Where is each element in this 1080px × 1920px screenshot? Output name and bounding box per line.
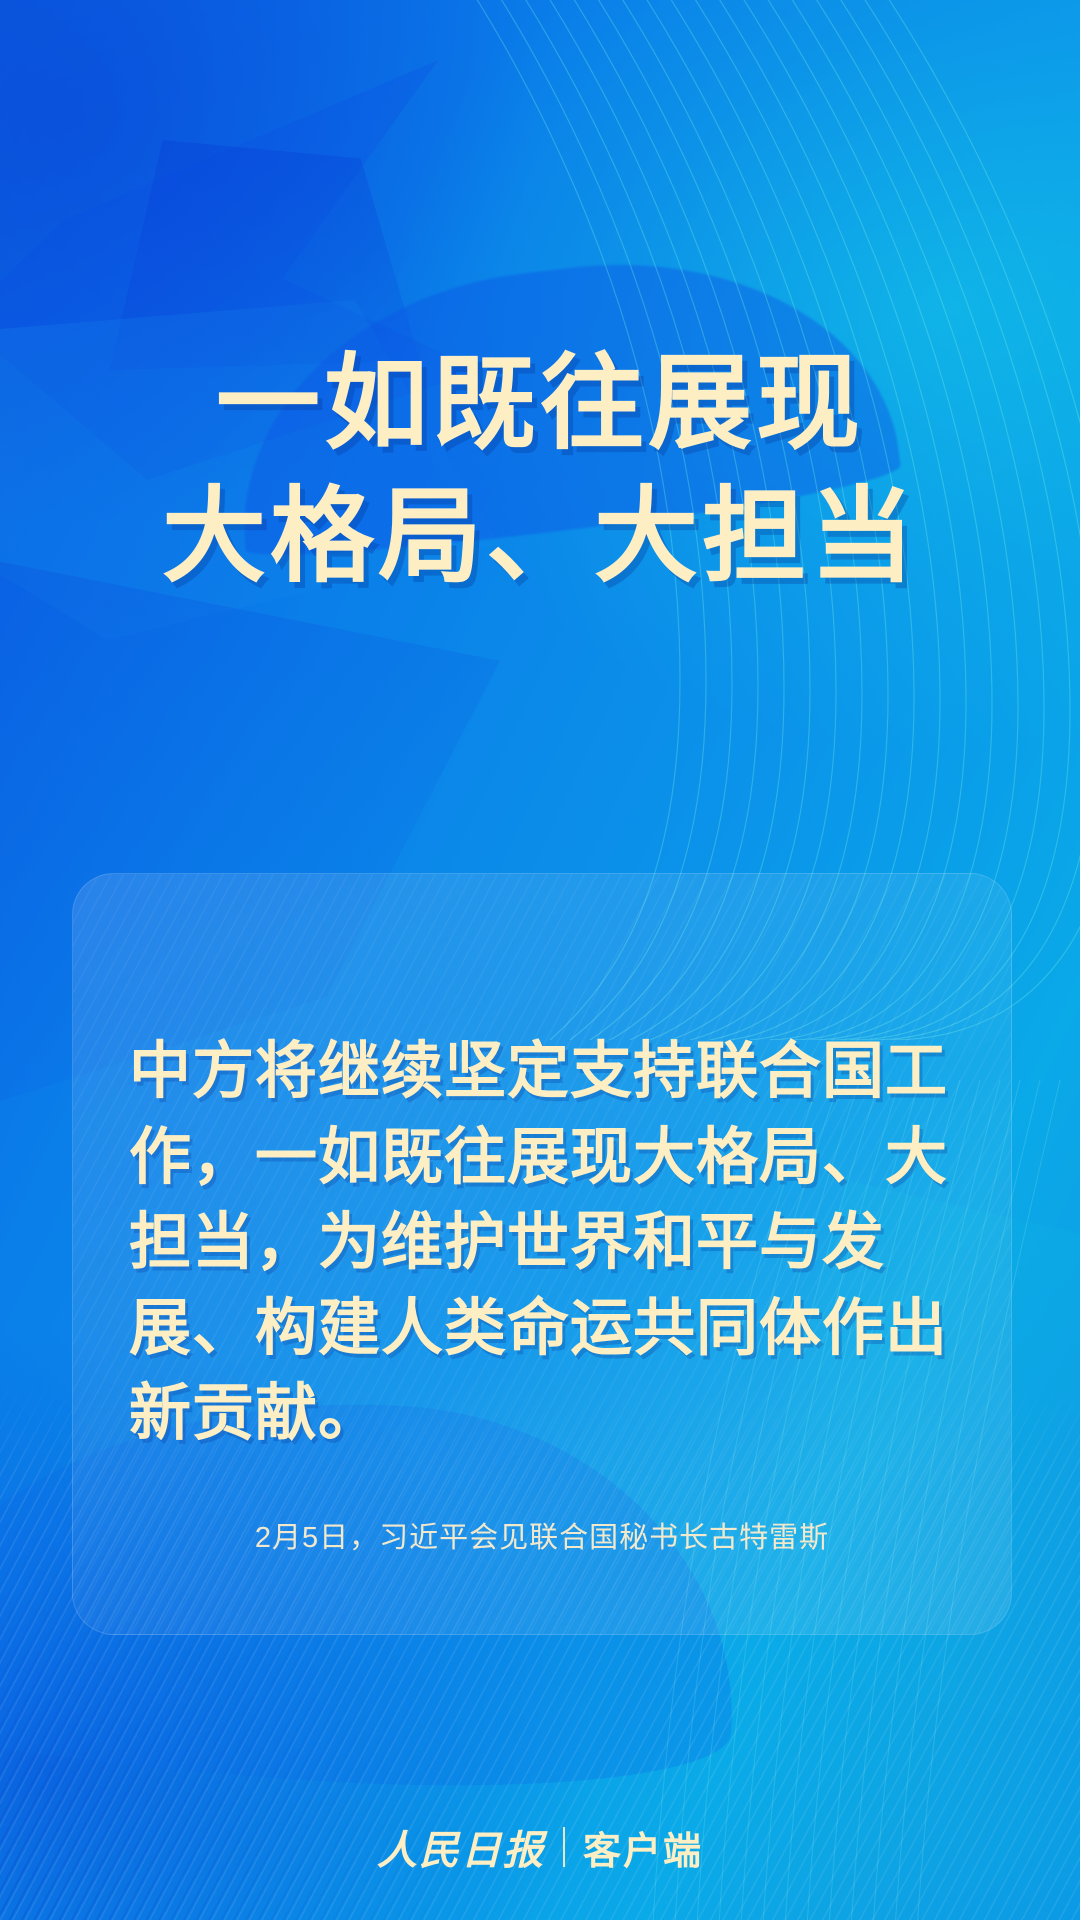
quote-text: 中方将继续坚定支持联合国工作，一如既往展现大格局、大担当，为维护世界和平与发展、… bbox=[129, 1028, 959, 1456]
brand-divider bbox=[563, 1827, 565, 1867]
headline-line-2: 大格局、大担当 bbox=[0, 469, 1080, 602]
brand-product-label: 客户端 bbox=[583, 1820, 703, 1875]
footer-brand: 人民日报 客户端 bbox=[0, 1818, 1080, 1876]
headline-line-1: 一如既往展现 bbox=[0, 336, 1080, 469]
quote-caption: 2月5日，习近平会见联合国秘书长古特雷斯 bbox=[73, 1514, 1011, 1556]
peoples-daily-logo: 人民日报 bbox=[377, 1818, 545, 1876]
page-title: 一如既往展现 大格局、大担当 bbox=[0, 336, 1080, 602]
quote-card: 中方将继续坚定支持联合国工作，一如既往展现大格局、大担当，为维护世界和平与发展、… bbox=[72, 873, 1012, 1635]
poster-canvas: 一如既往展现 大格局、大担当 中方将继续坚定支持联合国工作，一如既往展现大格局、… bbox=[0, 0, 1080, 1920]
